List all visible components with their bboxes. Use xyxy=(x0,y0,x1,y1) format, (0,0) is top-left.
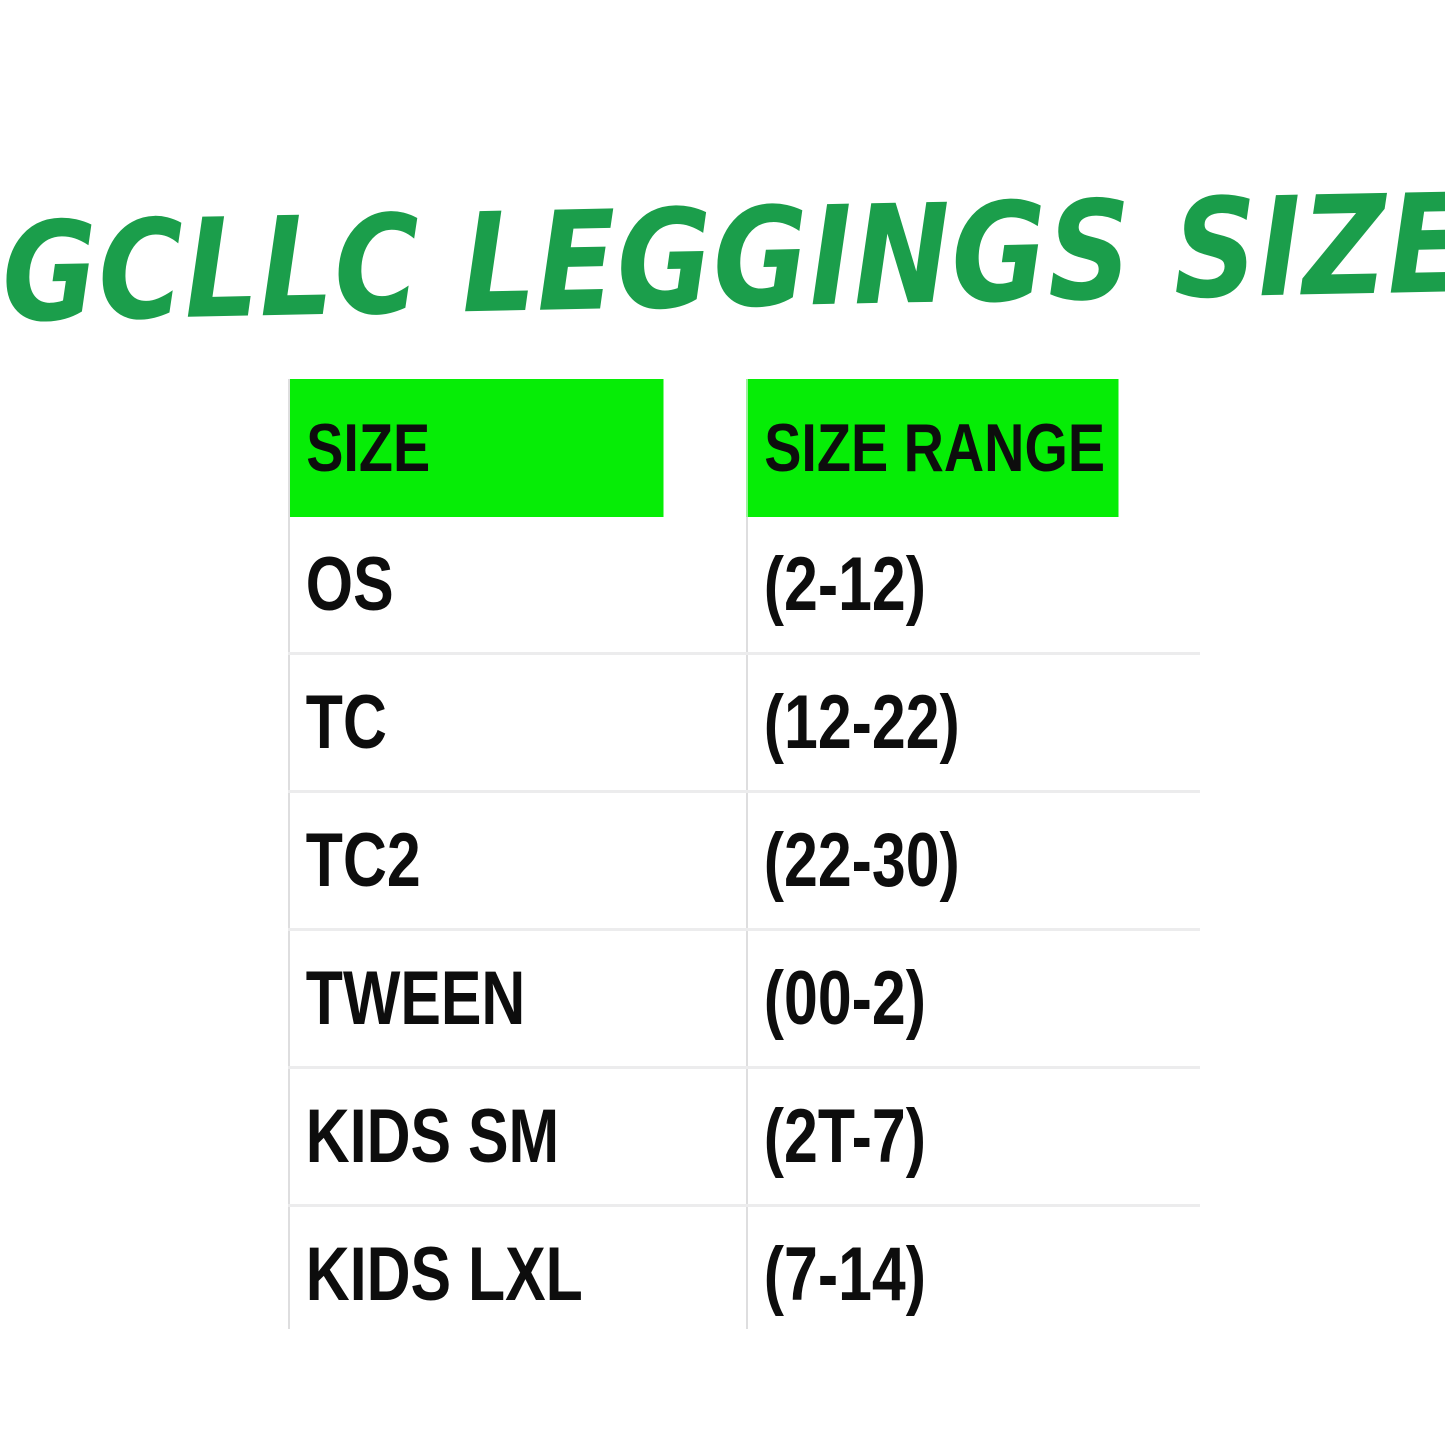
title-banner: GCLLC LEGGINGS SIZE CHART xyxy=(0,196,1445,346)
table-header-row: SIZE SIZE RANGE xyxy=(289,379,1200,517)
size-range-value: (2T-7) xyxy=(764,1097,926,1177)
cell-size: KIDS SM xyxy=(289,1068,655,1206)
size-chart-table: SIZE SIZE RANGE OS (2-12) TC xyxy=(288,379,1200,1329)
size-value: TC2 xyxy=(306,821,421,901)
cell-size-range: (12-22) xyxy=(747,654,1110,792)
cell-size: OS xyxy=(289,517,655,654)
cell-size: KIDS LXL xyxy=(289,1206,655,1330)
size-range-value: (00-2) xyxy=(764,959,926,1039)
size-chart-container: SIZE SIZE RANGE OS (2-12) TC xyxy=(288,379,1200,1329)
size-range-value: (7-14) xyxy=(764,1235,926,1315)
column-header-size: SIZE xyxy=(289,379,665,517)
table-row: TC (12-22) xyxy=(289,654,1200,792)
size-range-value: (12-22) xyxy=(764,683,960,763)
size-value: OS xyxy=(306,545,394,625)
table-row: TC2 (22-30) xyxy=(289,792,1200,930)
table-row: KIDS LXL (7-14) xyxy=(289,1206,1200,1330)
size-range-value: (22-30) xyxy=(764,821,960,901)
cell-size-range: (2-12) xyxy=(747,517,1110,654)
cell-size-range: (2T-7) xyxy=(747,1068,1110,1206)
column-header-size-range-label: SIZE RANGE xyxy=(764,413,1105,483)
table-body: OS (2-12) TC (12-22) TC2 (22-30) xyxy=(289,517,1200,1329)
column-header-size-range: SIZE RANGE xyxy=(747,379,1119,517)
cell-size: TWEEN xyxy=(289,930,655,1068)
cell-size-range: (7-14) xyxy=(747,1206,1110,1330)
cell-size: TC xyxy=(289,654,655,792)
cell-size-range: (22-30) xyxy=(747,792,1110,930)
page-title: GCLLC LEGGINGS SIZE CHART xyxy=(1,170,1445,350)
column-header-size-label: SIZE xyxy=(306,413,430,483)
table-row: OS (2-12) xyxy=(289,517,1200,654)
table-header: SIZE SIZE RANGE xyxy=(289,379,1200,517)
size-range-value: (2-12) xyxy=(764,545,926,625)
size-value: TWEEN xyxy=(306,959,526,1039)
cell-size: TC2 xyxy=(289,792,655,930)
table-row: KIDS SM (2T-7) xyxy=(289,1068,1200,1206)
table-row: TWEEN (00-2) xyxy=(289,930,1200,1068)
size-value: KIDS LXL xyxy=(306,1235,583,1315)
cell-size-range: (00-2) xyxy=(747,930,1110,1068)
size-value: TC xyxy=(306,683,387,763)
size-value: KIDS SM xyxy=(306,1097,559,1177)
